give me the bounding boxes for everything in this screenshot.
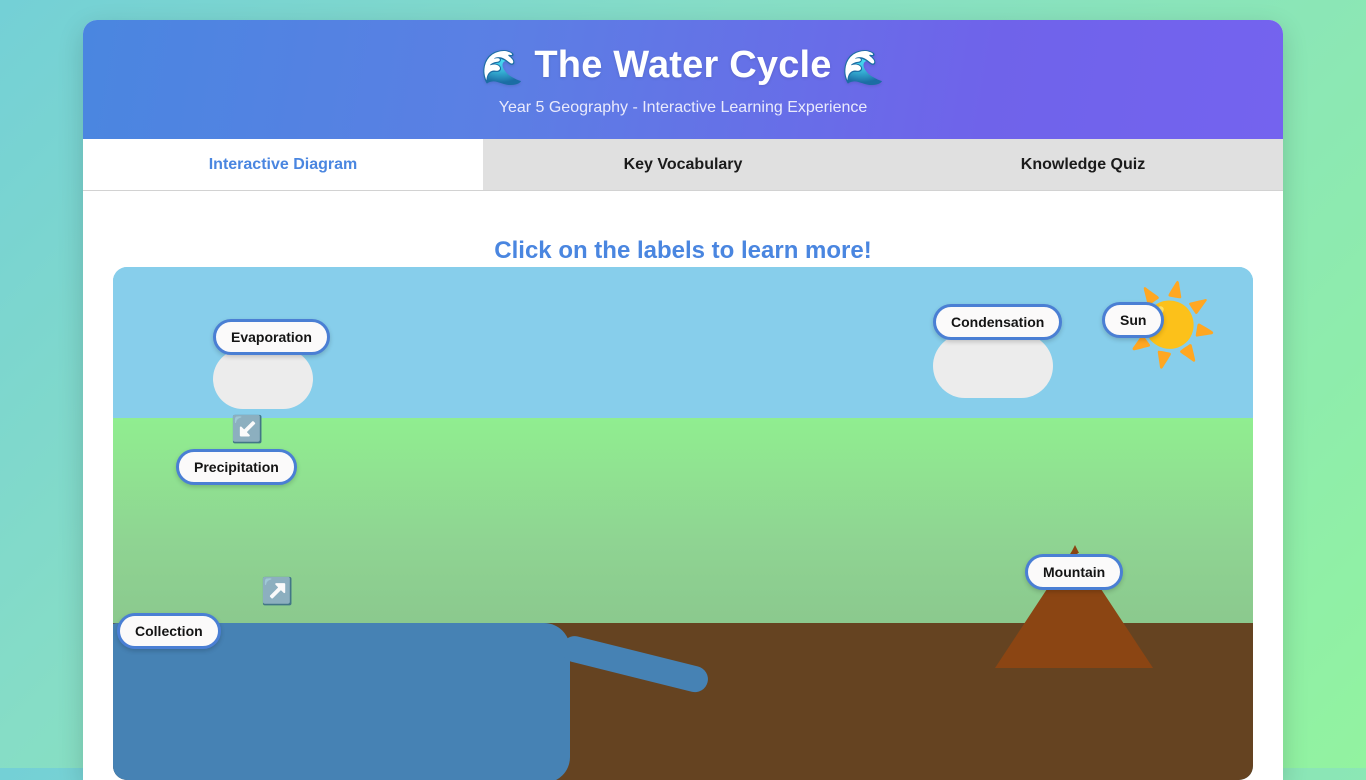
- page-subtitle: Year 5 Geography - Interactive Learning …: [83, 99, 1283, 117]
- tab-bar: Interactive Diagram Key Vocabulary Knowl…: [83, 139, 1283, 191]
- app-header: 🌊 The Water Cycle 🌊 Year 5 Geography - I…: [83, 20, 1283, 139]
- cloud-evaporation-shape: [213, 349, 313, 409]
- tab-interactive-diagram[interactable]: Interactive Diagram: [83, 139, 483, 190]
- label-precipitation[interactable]: Precipitation: [176, 449, 297, 485]
- down-left-arrow-icon: ↙️: [231, 416, 263, 442]
- tab-knowledge-quiz[interactable]: Knowledge Quiz: [883, 139, 1283, 190]
- up-right-arrow-icon: ↗️: [261, 578, 293, 604]
- app-card: 🌊 The Water Cycle 🌊 Year 5 Geography - I…: [83, 20, 1283, 780]
- cloud-condensation-shape: [933, 334, 1053, 398]
- label-evaporation[interactable]: Evaporation: [213, 319, 330, 355]
- wave-icon-right: 🌊: [842, 49, 885, 87]
- label-collection[interactable]: Collection: [117, 613, 221, 649]
- label-condensation[interactable]: Condensation: [933, 304, 1062, 340]
- label-sun[interactable]: Sun: [1102, 302, 1164, 338]
- page-title: 🌊 The Water Cycle 🌊: [83, 42, 1283, 91]
- tab-key-vocabulary[interactable]: Key Vocabulary: [483, 139, 883, 190]
- label-mountain[interactable]: Mountain: [1025, 554, 1123, 590]
- wave-icon-left: 🌊: [481, 49, 524, 87]
- page-title-text: The Water Cycle: [534, 44, 831, 86]
- water-cycle-diagram: ☀️ ↙️ ↗️ Evaporation Condensation Sun Pr…: [113, 267, 1253, 780]
